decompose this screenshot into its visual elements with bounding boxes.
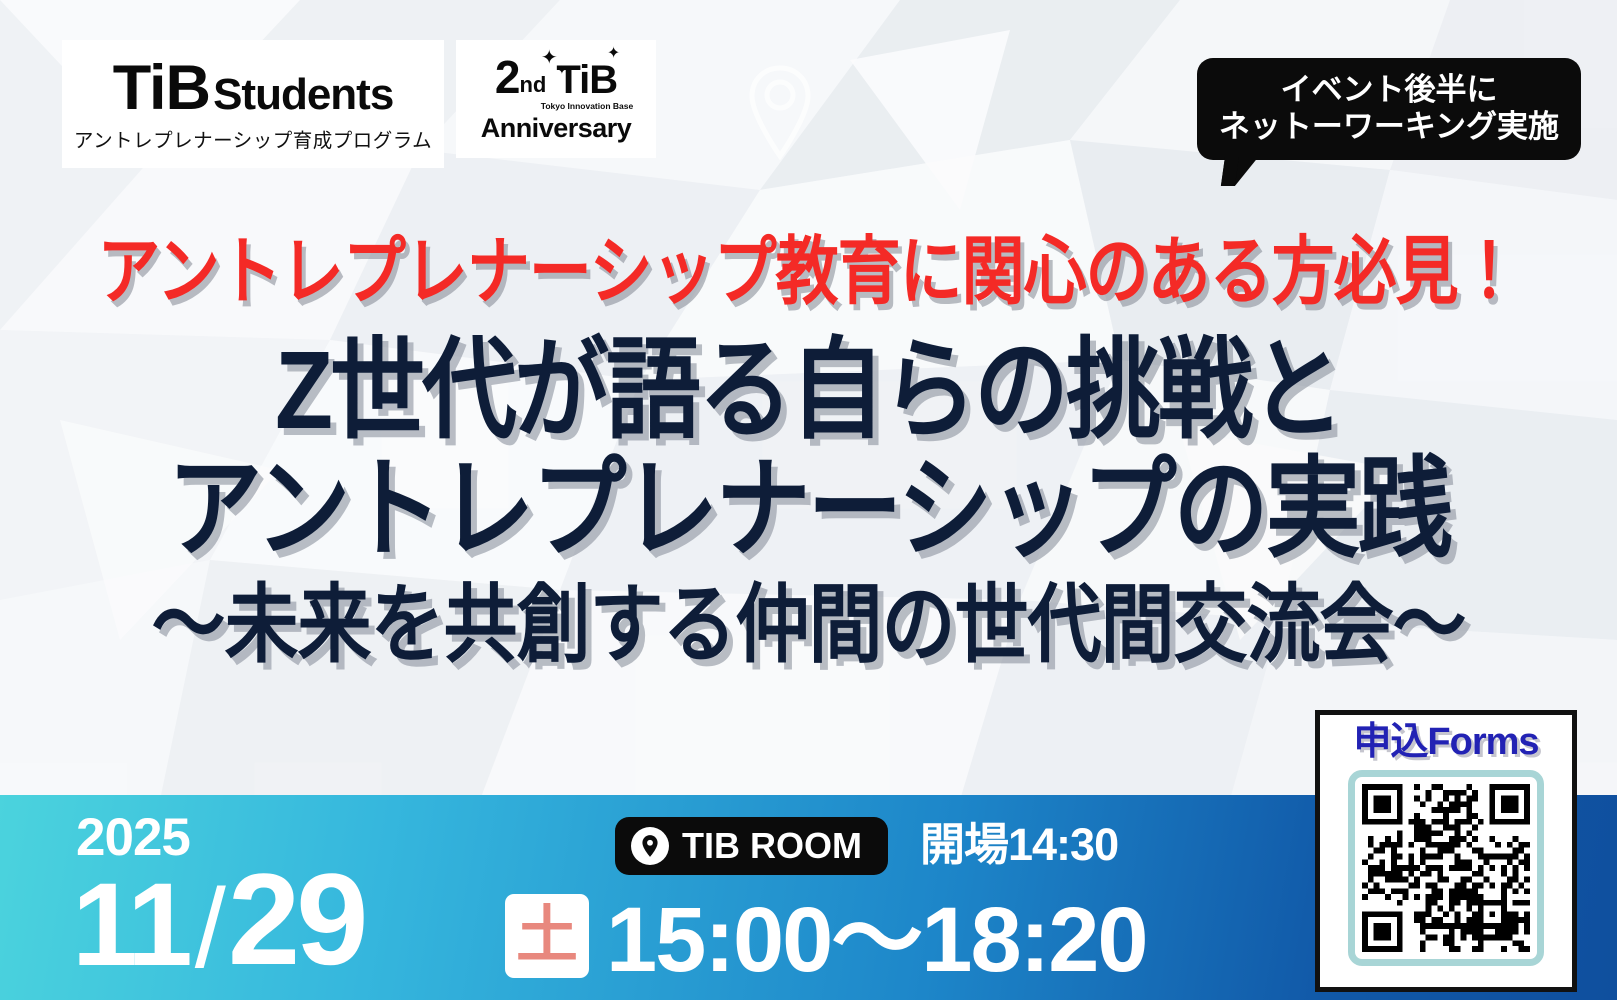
anniversary-top-row: ✦ ✦ ✦ 2 nd TiB [495,54,617,100]
date-separator: / [195,877,226,980]
location-pin-icon [631,827,669,865]
venue-badge: TIB ROOM [615,817,888,875]
venue-label: TIB ROOM [682,825,862,867]
tib-students-logo: TiB Students アントレプレナーシップ育成プログラム [62,40,444,168]
event-time-range: 15:00〜18:20 [606,894,1147,986]
tib-students-word-sub: Students [213,73,393,117]
tib-students-word-main: TiB [113,57,210,120]
title-line-1: Z世代が語る自らの挑戦と [0,335,1617,447]
decorative-map-pin-icon [745,62,815,162]
day-of-week-badge: 土 [505,894,589,978]
tib-students-tagline: アントレプレナーシップ育成プログラム [74,124,432,153]
speech-bubble-tail [1221,156,1259,186]
sparkle-icon: ✦ [607,46,620,62]
networking-badge-line2: ネットーワーキング実施 [1219,109,1559,146]
tib-students-wordmark: TiB Students [113,57,394,120]
qr-panel-title: 申込Forms [1353,723,1538,761]
event-month-day: 11 / 29 [72,860,364,980]
title-line-2: アントレプレナーシップの実践 [0,454,1617,566]
sparkle-icon: ✦ [541,48,558,68]
networking-badge-line1: イベント後半に [1219,72,1559,109]
qr-code-frame [1348,770,1544,966]
event-date-group: 2025 11 / 29 [72,811,364,980]
tib-anniversary-logo: ✦ ✦ ✦ 2 nd TiB Tokyo Innovation Base Ann… [456,40,656,158]
logo-strip: TiB Students アントレプレナーシップ育成プログラム ✦ ✦ ✦ 2 … [62,40,656,168]
qr-code-icon[interactable] [1362,784,1530,952]
title-subtitle: 〜未来を共創する仲間の世代間交流会〜 [0,581,1617,669]
networking-badge-body: イベント後半に ネットーワーキング実施 [1197,58,1581,160]
anniversary-ordinal: nd [519,74,546,96]
anniversary-number: 2 [495,54,519,100]
event-poster: TiB Students アントレプレナーシップ育成プログラム ✦ ✦ ✦ 2 … [0,0,1617,1000]
sparkle-icon: ✦ [557,64,567,76]
application-qr-panel[interactable]: 申込Forms [1315,710,1577,992]
event-month: 11 [72,871,189,980]
door-open-time: 開場14:30 [920,817,1118,873]
event-day: 29 [228,860,365,980]
red-headline: アントレプレナーシップ教育に関心のある方必見！ [0,212,1617,319]
anniversary-brand-sub: Tokyo Innovation Base [541,101,633,111]
networking-badge: イベント後半に ネットーワーキング実施 [1197,58,1581,160]
anniversary-word: Anniversary [481,113,632,144]
main-title-block: Z世代が語る自らの挑戦と アントレプレナーシップの実践 〜未来を共創する仲間の世… [0,335,1617,656]
